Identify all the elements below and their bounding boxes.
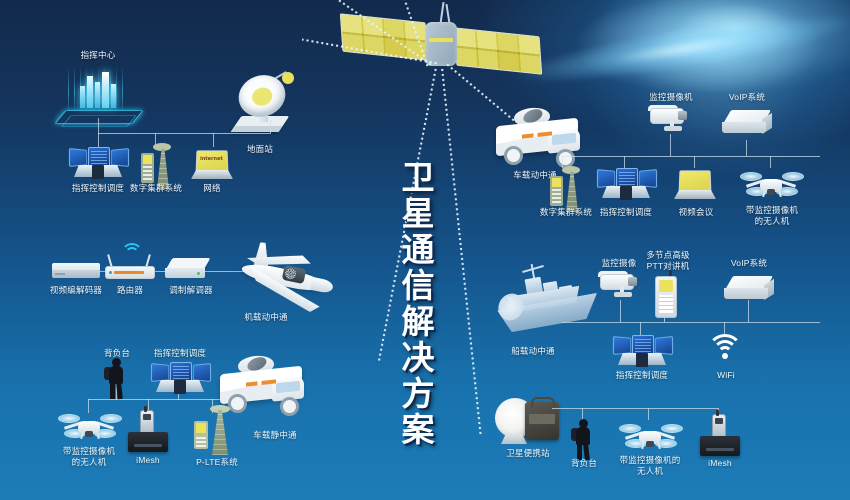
line-mr-bus (562, 322, 820, 323)
bl-lower-label-3: P-LTE系统 (182, 457, 252, 468)
title-char-7: 方 (402, 376, 435, 412)
line-tr-voip-up (746, 140, 747, 156)
line-tl-bus (98, 133, 270, 134)
ml-item-label-3: 调制解调器 (155, 285, 227, 296)
bl-lower-label-1: 带监控摄像机 的无人机 (50, 446, 128, 468)
title-char-5: 解 (402, 304, 435, 340)
title-char-3: 通 (402, 232, 435, 268)
br-item-label-1: 背负台 (557, 458, 611, 469)
mr-lower-label-1: 指挥控制调度 (606, 370, 678, 381)
portable-station-label: 卫星便携站 (492, 448, 564, 459)
airborne-terminal-label: 机载动中通 (228, 312, 304, 323)
title-char-2: 星 (402, 196, 435, 232)
line-br-drop-2 (648, 408, 649, 420)
line-tr-bus (562, 156, 820, 157)
ship-terminal-label: 船载动中通 (498, 346, 568, 357)
title-char-8: 案 (402, 412, 435, 448)
tr-upper-label-2: VoIP系统 (716, 92, 778, 103)
line-tl-drop-3 (213, 133, 214, 147)
mr-lower-label-2: WiFi (706, 370, 746, 381)
line-tr-drop-4 (770, 156, 771, 168)
mr-upper-label-3: VoIP系统 (718, 258, 780, 269)
vehicle-static-terminal-label: 车载静中通 (240, 430, 310, 441)
line-tr-camera-up (670, 134, 671, 156)
command-center-label: 指挥中心 (58, 50, 138, 61)
line-mr-camera-up (620, 300, 621, 322)
line-tl-gs-drop (270, 120, 271, 134)
ground-station-label: 地面站 (225, 144, 295, 155)
tr-lower-label-4: 带监控摄像机 的无人机 (732, 205, 812, 227)
tr-upper-label-1: 监控摄像机 (638, 92, 704, 103)
mr-upper-label-2: 多节点高级 PTT对讲机 (636, 250, 700, 272)
tr-lower-label-3: 视频会议 (666, 207, 726, 218)
title-char-1: 卫 (402, 160, 435, 196)
ml-item-label-1: 视频编解码器 (40, 285, 112, 296)
title-char-4: 信 (402, 268, 435, 304)
br-item-label-3: iMesh (698, 458, 742, 469)
title-char-6: 决 (402, 340, 435, 376)
page-title: 卫 星 通 信 解 决 方 案 (386, 160, 450, 448)
laptop-screen-text: internet (200, 156, 223, 162)
satellite-communication-diagram: 卫 星 通 信 解 决 方 案 指挥中心 地面站 指挥控制 (0, 0, 850, 500)
tl-item-label-3: 网络 (182, 183, 242, 194)
line-cc-down (98, 118, 99, 134)
line-tr-drop-3 (694, 156, 695, 168)
br-item-label-2: 带监控摄像机的 无人机 (610, 455, 690, 477)
bl-upper-label-2: 指挥控制调度 (145, 348, 215, 359)
earth-horizon-glow (560, 0, 850, 170)
bl-lower-label-2: iMesh (126, 455, 170, 466)
line-br-bus (552, 408, 718, 409)
tr-lower-label-2: 指挥控制调度 (590, 207, 662, 218)
ml-item-label-2: 路由器 (104, 285, 156, 296)
